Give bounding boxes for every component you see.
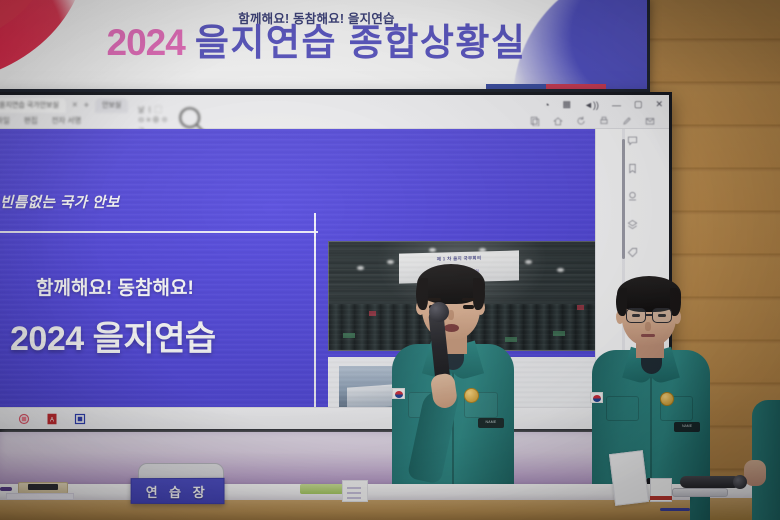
slide-slogan: 함께해요! 동참해요! [36, 273, 194, 300]
right-desk-pen [660, 508, 690, 511]
comment-icon[interactable] [627, 135, 638, 146]
pdf-icon[interactable]: A [46, 413, 58, 425]
conference-table-front [0, 500, 690, 520]
clock-icon: ◔ [544, 100, 549, 110]
tab-label: 안보실 [102, 102, 121, 109]
speaker-brow-right [462, 298, 475, 301]
attendee-zipper [650, 372, 652, 487]
room-light-glow [0, 432, 680, 482]
print-icon[interactable] [599, 116, 609, 126]
chart-icon: ▦ [563, 99, 572, 110]
speaker-mouth [444, 324, 459, 332]
media-player-icon[interactable] [74, 413, 86, 425]
speaker-eye-right [463, 305, 474, 309]
slide-divider-horizontal [0, 231, 318, 233]
app-toolbar[interactable] [530, 113, 655, 128]
desk-white-card [342, 480, 368, 502]
refresh-icon[interactable] [576, 116, 586, 126]
korea-flag-patch [590, 392, 603, 403]
layers-icon[interactable] [627, 219, 638, 230]
tab-label: 을지연습 국가안보실 [0, 102, 59, 109]
desk-green-folder [300, 484, 345, 494]
maximize-button[interactable]: ▢ [634, 99, 643, 110]
table-microphone-base [672, 488, 728, 497]
korea-flag-patch [392, 388, 405, 399]
desk-pen [0, 487, 12, 491]
slide-title: 2024 을지연습 [10, 311, 216, 360]
speaker-brow-left [428, 298, 441, 301]
menu-item-edit[interactable]: 편집 [24, 115, 38, 126]
nameplate-label: 연 습 장 [146, 481, 209, 500]
menu-bar[interactable]: 파일 편집 전자 서명 [0, 114, 81, 127]
glasses-lens-left-icon [626, 308, 646, 323]
mail-icon[interactable] [645, 116, 655, 126]
new-tab-icon[interactable]: + [84, 100, 89, 110]
secondary-toolbar[interactable]: 날 ㅣ ⬚ ㅁ ≡ ⊕ ㅇ ㄱ [138, 113, 209, 127]
event-banner: 함께해요! 동참해요! 을지연습 2024을지연습 종합상황실 [0, 0, 650, 92]
speaker-emblem-badge [464, 388, 479, 403]
close-button[interactable]: ✕ [655, 99, 663, 110]
attendee-emblem-badge [660, 392, 674, 406]
app-chrome: 을지연습 국가안보실 ✕ + 안보실 파일 편집 전자 서명 ◔ ▦ ◄)) —… [0, 95, 669, 129]
tab-close-icon[interactable]: ✕ [72, 101, 78, 109]
window-controls[interactable]: ◔ ▦ ◄)) — ▢ ✕ [544, 97, 663, 112]
banner-stripe [486, 84, 606, 92]
stamp-icon[interactable] [627, 191, 638, 202]
desk-dark-object [28, 484, 58, 490]
presentation-display: 을지연습 국가안보실 ✕ + 안보실 파일 편집 전자 서명 ◔ ▦ ◄)) —… [0, 92, 672, 432]
desk-paper-sheet [6, 493, 74, 500]
table-microphone-head [733, 475, 747, 489]
browser-tab-bar[interactable]: 을지연습 국가안보실 ✕ + 안보실 [0, 97, 128, 113]
glasses-lens-right-icon [652, 308, 672, 323]
speaker-hair-right [473, 278, 485, 310]
attendee-name-tape: NAME [674, 422, 700, 432]
held-paper-sheet [609, 450, 649, 506]
menu-item-esign[interactable]: 전자 서명 [52, 115, 82, 126]
tag-icon[interactable] [627, 247, 638, 258]
attendee-nose [645, 322, 651, 331]
slide-divider-vertical [314, 213, 316, 407]
slide-headline: 빈틈없는 국가 안보 [0, 191, 120, 212]
speaker-hair-left [416, 278, 428, 310]
home-icon[interactable] [553, 116, 563, 126]
pen-icon[interactable] [622, 116, 632, 126]
glasses-bridge [646, 314, 652, 316]
sidebar-icon-list[interactable] [596, 135, 669, 258]
sound-icon: ◄)) [584, 100, 599, 110]
banner-year: 2024 [107, 22, 185, 63]
attendee-pocket-left [606, 396, 639, 421]
tab-1[interactable]: 안보실 [95, 98, 128, 113]
minimize-button[interactable]: — [612, 100, 621, 110]
copy-icon[interactable] [530, 116, 540, 126]
os-taskbar[interactable]: A [0, 407, 669, 429]
tab-0[interactable]: 을지연습 국가안보실 [0, 98, 66, 113]
right-desk-card-stripe [650, 496, 672, 500]
banner-title-text: 을지연습 종합상황실 [195, 22, 527, 63]
table-microphone-body [680, 476, 740, 488]
speaker-name-tape: NAME [478, 418, 504, 428]
nameplate-exercise-director: 연 습 장 [131, 478, 225, 504]
speaker-person: NAME [392, 262, 514, 520]
menu-item-file[interactable]: 파일 [0, 115, 10, 126]
attendee-mouth [641, 334, 655, 337]
banner-title: 2024을지연습 종합상황실 [0, 24, 647, 61]
screenshot-root: 함께해요! 동참해요! 을지연습 2024을지연습 종합상황실 을지연습 국가안… [0, 0, 780, 520]
hancom-office-icon[interactable] [18, 413, 30, 425]
bookmark-icon[interactable] [627, 163, 638, 174]
svg-text:A: A [50, 417, 54, 423]
third-person-hand [744, 460, 766, 486]
